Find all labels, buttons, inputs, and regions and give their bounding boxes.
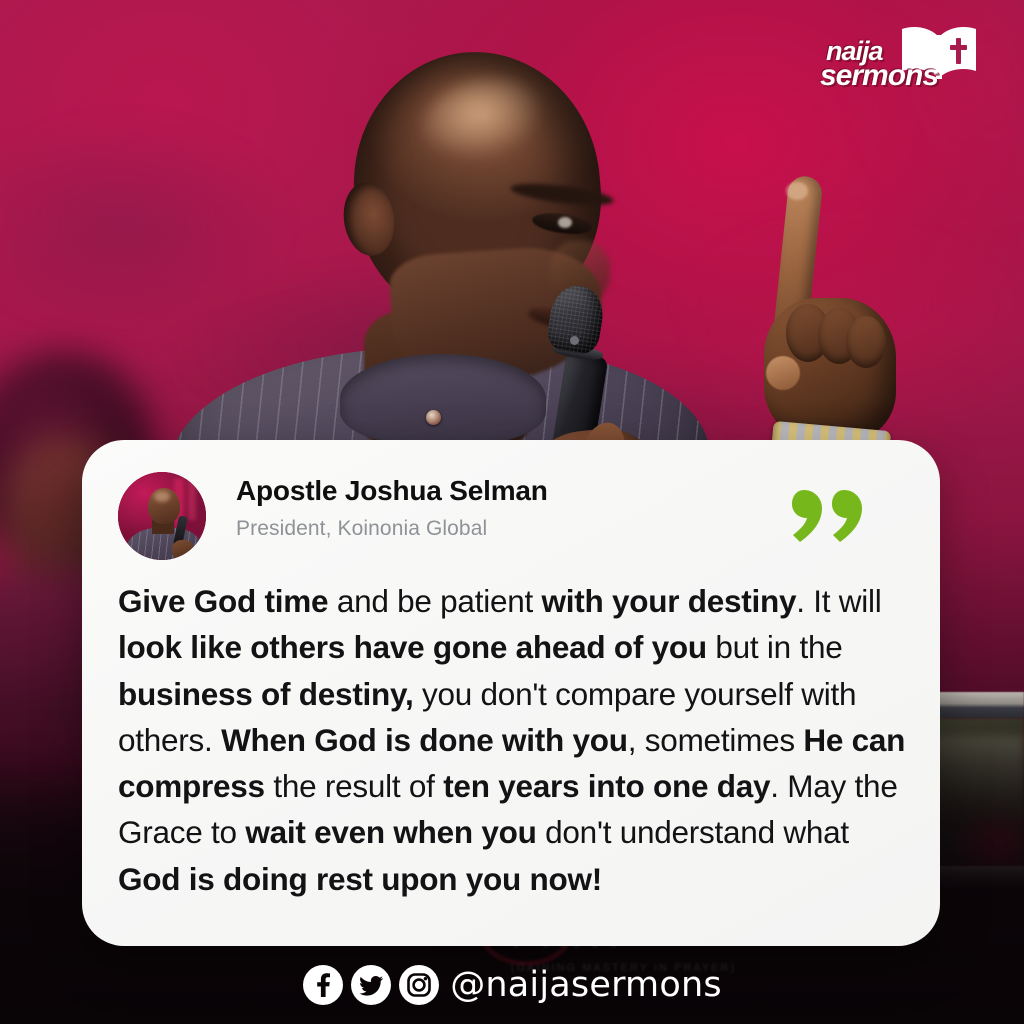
quote-card-header: Apostle Joshua Selman President, Koinoni…	[118, 468, 904, 564]
social-icons-group	[302, 964, 440, 1006]
naija-sermons-logo: naija sermons	[842, 22, 982, 100]
quote-segment-6: business of destiny,	[118, 676, 413, 712]
raised-hand-pointing-up	[742, 176, 922, 448]
speaker-role: President, Koinonia Global	[236, 517, 548, 541]
quote-segment-3: . It will	[796, 583, 881, 619]
social-footer-bar: @naijasermons	[0, 946, 1024, 1024]
quote-segment-0: Give God time	[118, 583, 328, 619]
speaker-avatar	[118, 472, 206, 560]
quote-segment-8: When God is done with you	[221, 722, 628, 758]
quote-segment-16: God is doing rest upon you now!	[118, 861, 602, 897]
instagram-icon[interactable]	[398, 964, 440, 1006]
quote-segment-2: with your destiny	[542, 583, 797, 619]
double-quote-icon	[790, 488, 866, 544]
facebook-icon[interactable]	[302, 964, 344, 1006]
quote-segment-11: the result of	[265, 768, 443, 804]
quote-segment-14: wait even when you	[245, 814, 536, 850]
logo-wordmark: naija sermons	[820, 40, 948, 89]
logo-line-2: sermons	[820, 63, 948, 89]
speaker-figure	[158, 18, 718, 458]
quote-segment-15: don't understand what	[537, 814, 849, 850]
twitter-icon[interactable]	[350, 964, 392, 1006]
speaker-identity: Apostle Joshua Selman President, Koinoni…	[236, 474, 548, 541]
quote-segment-9: , sometimes	[628, 722, 804, 758]
quote-segment-1: and be patient	[328, 583, 541, 619]
quote-card: Apostle Joshua Selman President, Koinoni…	[82, 440, 940, 946]
poster-canvas: KOINONIA PRAY (GAINING MASTERY IN PRAYER…	[0, 0, 1024, 1024]
social-handle: @naijasermons	[450, 965, 722, 1005]
quote-segment-4: look like others have gone ahead of you	[118, 629, 707, 665]
quote-segment-5: but in the	[707, 629, 843, 665]
speaker-name: Apostle Joshua Selman	[236, 474, 548, 508]
quote-text: Give God time and be patient with your d…	[118, 578, 912, 902]
quote-segment-12: ten years into one day	[443, 768, 770, 804]
